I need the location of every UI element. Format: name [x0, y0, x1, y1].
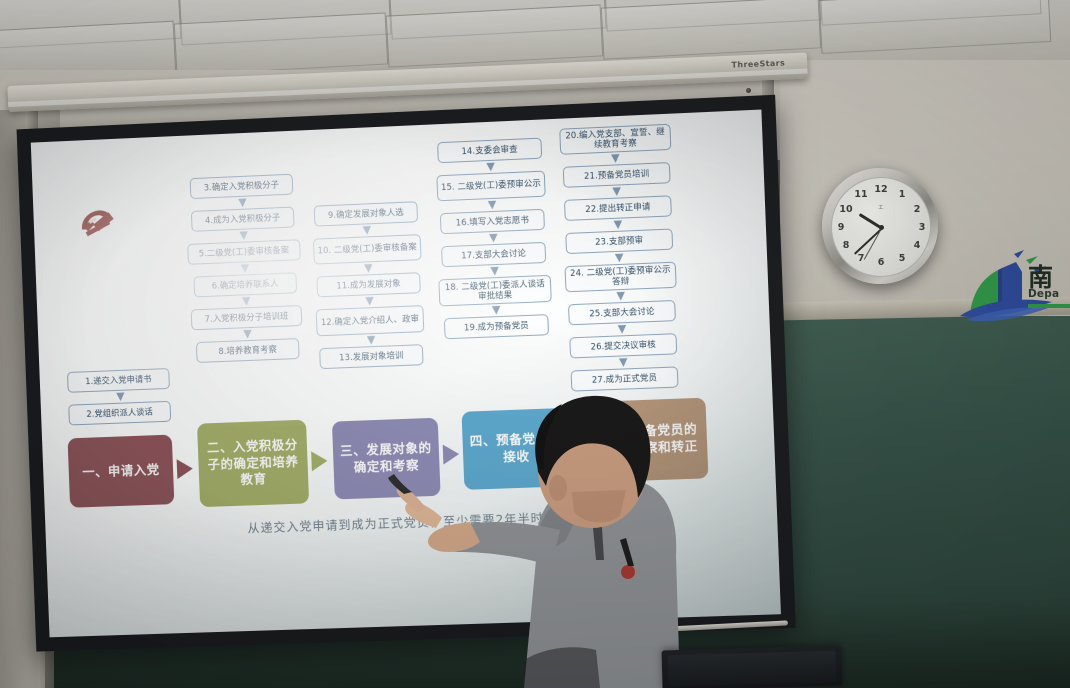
laptop-screen [668, 651, 837, 687]
classroom-photo: ThreeStars [0, 0, 1070, 688]
laptop[interactable] [661, 645, 842, 688]
